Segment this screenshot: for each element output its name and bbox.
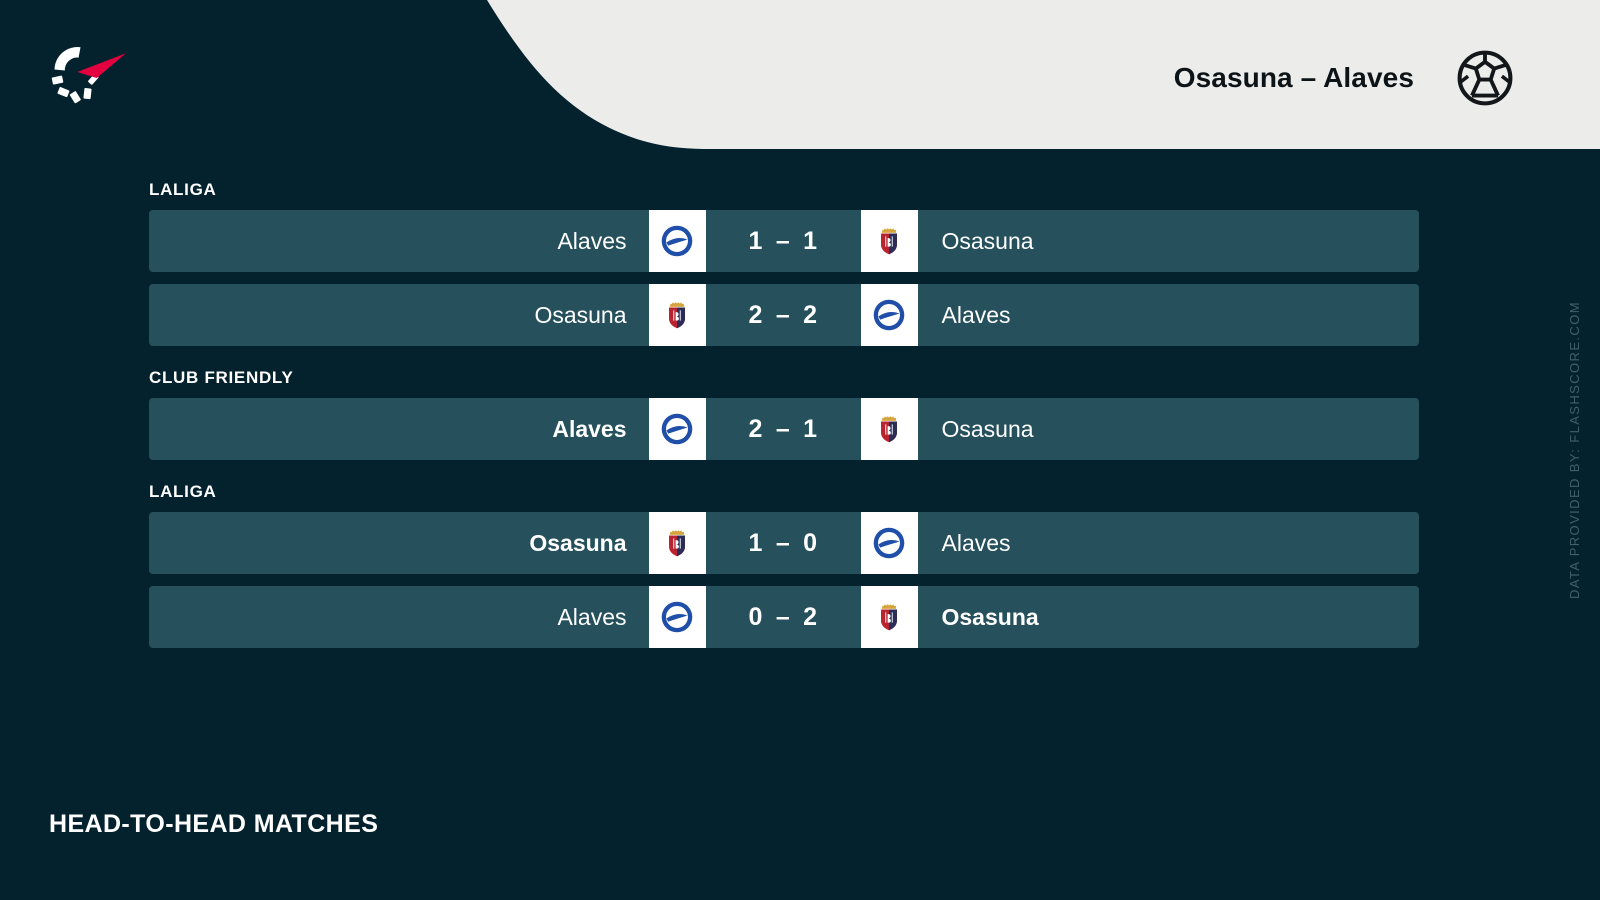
soccer-ball-icon — [1456, 49, 1514, 107]
home-team-name: Alaves — [149, 398, 649, 460]
match-row[interactable]: Alaves 2 – 1 — [149, 398, 1419, 460]
section-label: CLUB FRIENDLY — [149, 368, 1600, 388]
match-row[interactable]: Alaves 1 – 1 — [149, 210, 1419, 272]
home-team-badge — [649, 586, 706, 648]
home-score: 1 — [749, 529, 763, 558]
home-team-badge — [649, 398, 706, 460]
data-provider-watermark: DATA PROVIDED BY: FLASHSCORE.COM — [1567, 301, 1582, 599]
away-team-badge — [861, 210, 918, 272]
score-separator: – — [776, 415, 790, 444]
score: 2 – 2 — [706, 284, 861, 346]
flashscore-logo[interactable] — [44, 38, 136, 106]
away-team-name: Osasuna — [918, 586, 1420, 648]
score: 1 – 1 — [706, 210, 861, 272]
score-separator: – — [776, 603, 790, 632]
score: 0 – 2 — [706, 586, 861, 648]
score-separator: – — [776, 529, 790, 558]
header-right-group: Osasuna – Alaves — [1174, 0, 1600, 156]
away-team-badge — [861, 586, 918, 648]
away-score: 0 — [803, 529, 817, 558]
score-separator: – — [776, 227, 790, 256]
page-root: Osasuna – Alaves LALIGA — [0, 0, 1600, 900]
away-team-badge — [861, 284, 918, 346]
away-team-name: Osasuna — [918, 398, 1420, 460]
match-row[interactable]: Osasuna 1 – 0 — [149, 512, 1419, 574]
away-score: 1 — [803, 415, 817, 444]
away-score: 2 — [803, 301, 817, 330]
h2h-list: LALIGA Alaves 1 – 1 — [0, 156, 1600, 660]
home-score: 0 — [749, 603, 763, 632]
home-team-name: Osasuna — [149, 284, 649, 346]
home-team-name: Osasuna — [149, 512, 649, 574]
score-separator: – — [776, 301, 790, 330]
away-team-name: Osasuna — [918, 210, 1420, 272]
home-team-badge — [649, 210, 706, 272]
score: 1 – 0 — [706, 512, 861, 574]
home-score: 2 — [749, 415, 763, 444]
away-team-name: Alaves — [918, 284, 1420, 346]
score: 2 – 1 — [706, 398, 861, 460]
away-team-badge — [861, 398, 918, 460]
away-team-name: Alaves — [918, 512, 1420, 574]
home-score: 1 — [749, 227, 763, 256]
home-team-name: Alaves — [149, 586, 649, 648]
away-score: 2 — [803, 603, 817, 632]
h2h-section-heading: HEAD-TO-HEAD MATCHES — [49, 810, 378, 839]
page-title: Osasuna – Alaves — [1174, 62, 1414, 94]
home-team-badge — [649, 284, 706, 346]
away-score: 1 — [803, 227, 817, 256]
page-header: Osasuna – Alaves — [0, 0, 1600, 156]
match-row[interactable]: Alaves 0 – 2 — [149, 586, 1419, 648]
match-row[interactable]: Osasuna 2 – 2 — [149, 284, 1419, 346]
section-label: LALIGA — [149, 180, 1600, 200]
section-label: LALIGA — [149, 482, 1600, 502]
away-team-badge — [861, 512, 918, 574]
home-score: 2 — [749, 301, 763, 330]
home-team-badge — [649, 512, 706, 574]
home-team-name: Alaves — [149, 210, 649, 272]
